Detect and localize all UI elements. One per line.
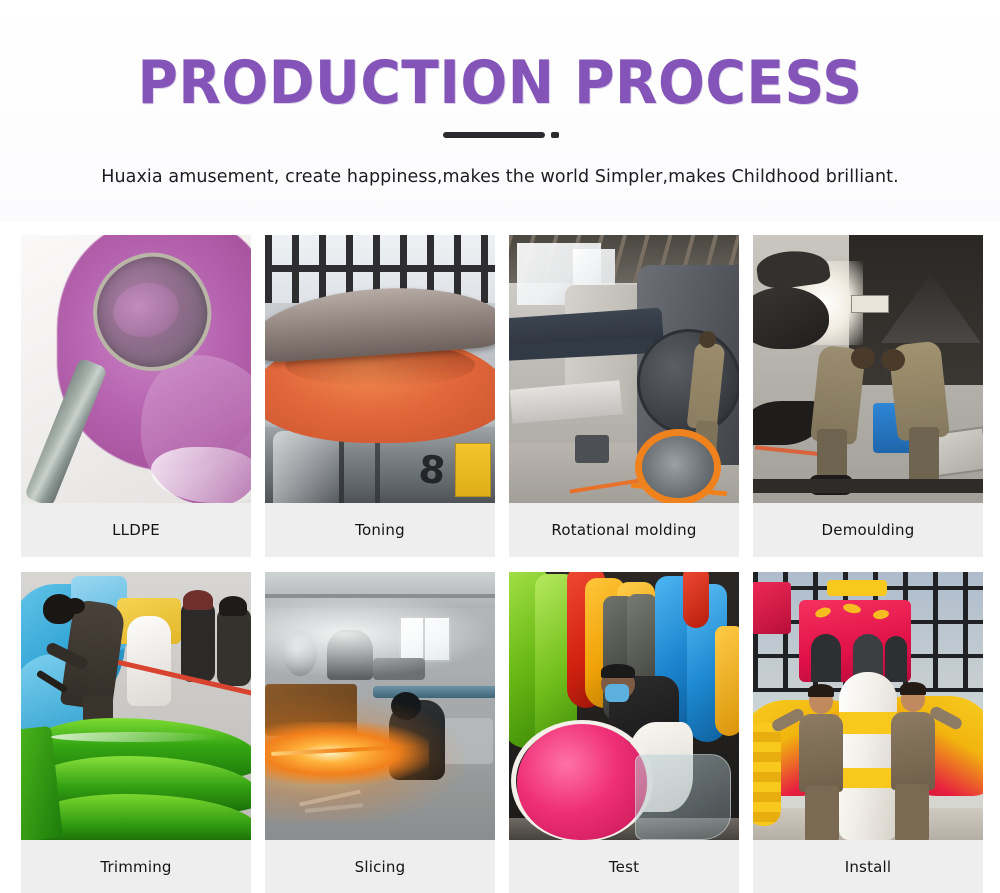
process-card-slicing[interactable]: Slicing [265, 572, 495, 893]
process-gallery-grid: LLDPE 8 [21, 235, 983, 893]
process-image-rotational-molding[interactable] [509, 235, 739, 503]
process-image-trimming[interactable] [21, 572, 251, 840]
divider-bar [443, 132, 545, 138]
process-card-demoulding[interactable]: Demoulding [753, 235, 983, 557]
process-caption-slicing: Slicing [265, 840, 495, 893]
process-card-rotational-molding[interactable]: Rotational molding [509, 235, 739, 557]
process-caption-test: Test [509, 840, 739, 893]
process-image-install[interactable] [753, 572, 983, 840]
process-image-test[interactable] [509, 572, 739, 840]
process-caption-text: Toning [355, 521, 405, 539]
process-image-demoulding[interactable] [753, 235, 983, 503]
process-caption-lldpe: LLDPE [21, 503, 251, 557]
production-process-page: PRODUCTION PROCESS Huaxia amusement, cre… [0, 0, 1000, 893]
process-caption-text: Slicing [355, 858, 406, 876]
process-card-test[interactable]: Test [509, 572, 739, 893]
process-caption-demoulding: Demoulding [753, 503, 983, 557]
divider-dot [551, 132, 559, 138]
process-card-install[interactable]: Install [753, 572, 983, 893]
process-caption-text: Demoulding [822, 521, 915, 539]
process-caption-toning: Toning [265, 503, 495, 557]
title-divider [0, 130, 1000, 140]
process-caption-text: Test [609, 858, 639, 876]
process-caption-text: LLDPE [112, 521, 160, 539]
process-card-trimming[interactable]: Trimming [21, 572, 251, 893]
process-caption-text: Rotational molding [551, 521, 696, 539]
process-card-toning[interactable]: 8 Toning [265, 235, 495, 557]
process-caption-rotational-molding: Rotational molding [509, 503, 739, 557]
process-card-lldpe[interactable]: LLDPE [21, 235, 251, 557]
process-image-lldpe[interactable] [21, 235, 251, 503]
page-header: PRODUCTION PROCESS Huaxia amusement, cre… [0, 0, 1000, 222]
process-caption-trimming: Trimming [21, 840, 251, 893]
process-caption-text: Trimming [100, 858, 171, 876]
process-image-slicing[interactable] [265, 572, 495, 840]
page-title: PRODUCTION PROCESS [40, 50, 960, 116]
process-caption-text: Install [845, 858, 892, 876]
process-caption-install: Install [753, 840, 983, 893]
page-subtitle: Huaxia amusement, create happiness,makes… [0, 164, 1000, 190]
process-image-toning[interactable]: 8 [265, 235, 495, 503]
